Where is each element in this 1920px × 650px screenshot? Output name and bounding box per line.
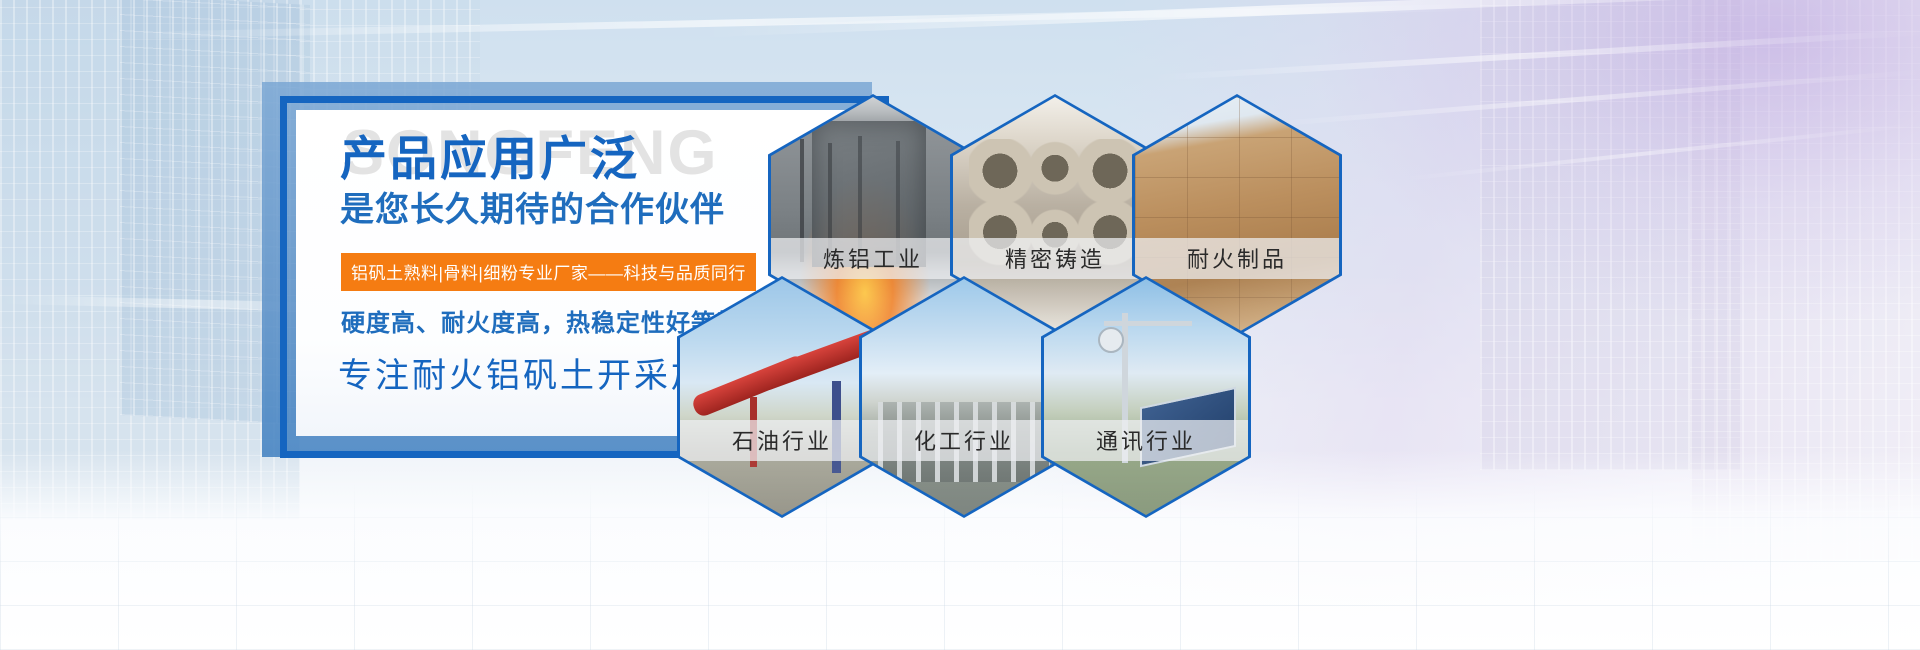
glass-tower-left-1 <box>0 0 300 520</box>
hexagon-label: 化工行业 <box>862 420 1066 461</box>
highlight-badge: 铝矾土熟料|骨料|细粉专业厂家——科技与品质同行 <box>341 253 756 291</box>
glass-tower-right-1 <box>1480 0 1740 470</box>
light-streak <box>700 0 1919 37</box>
light-streak <box>100 3 1500 39</box>
glass-tower-right-2 <box>1690 0 1920 560</box>
hexagon-label: 精密铸造 <box>953 238 1157 279</box>
page-subtitle: 是您长久期待的合作伙伴 <box>340 190 725 231</box>
hexagon-label: 石油行业 <box>680 420 884 461</box>
hexagon-label: 炼铝工业 <box>771 238 975 279</box>
light-streak <box>1251 69 1920 129</box>
hero-banner: SONGFENG 产品应用广泛 是您长久期待的合作伙伴 铝矾土熟料|骨料|细粉专… <box>0 0 1920 650</box>
hexagon-label: 通讯行业 <box>1044 420 1248 461</box>
violet-glow <box>1320 0 1920 320</box>
light-streak <box>1401 123 1919 181</box>
hexagon-label: 耐火制品 <box>1135 238 1339 279</box>
light-streak <box>1151 29 1920 81</box>
page-title: 产品应用广泛 <box>340 133 640 185</box>
